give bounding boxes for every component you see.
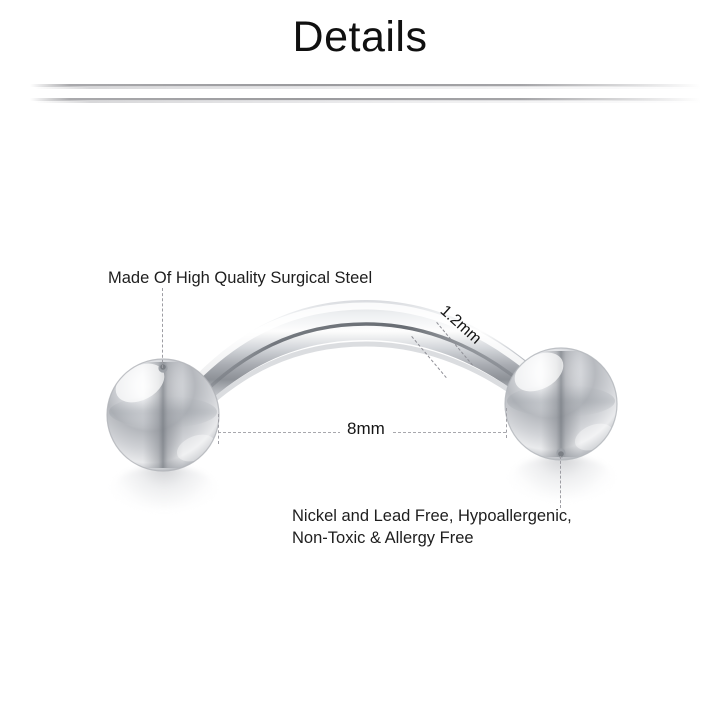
safety-callout-leader [560, 456, 561, 508]
product-figure: 8mm 1.2mm Made Of High Quality Surgical … [0, 0, 720, 720]
length-dimension-label: 8mm [340, 419, 392, 439]
curved-barbell-illustration [0, 0, 720, 720]
length-dimension-tick-right [506, 408, 507, 438]
product-detail-image: Details [0, 0, 720, 720]
length-dimension-tick-left [218, 414, 219, 444]
material-callout-leader [162, 288, 163, 368]
safety-callout-text: Nickel and Lead Free, Hypoallergenic, No… [292, 505, 572, 549]
material-callout-text: Made Of High Quality Surgical Steel [108, 267, 372, 289]
